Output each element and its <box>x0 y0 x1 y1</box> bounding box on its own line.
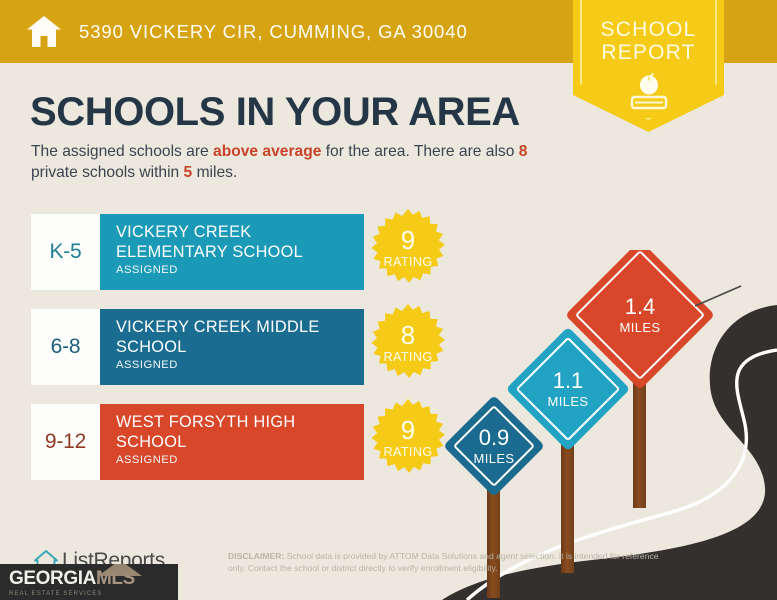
school-status: ASSIGNED <box>116 454 364 466</box>
subtitle-highlight-above-average: above average <box>213 143 321 160</box>
sign-antenna-icon <box>695 284 755 314</box>
school-name-bar: VICKERY CREEK MIDDLE SCHOOL ASSIGNED <box>100 309 364 385</box>
subtitle-highlight-private-count: 8 <box>519 143 528 160</box>
sign-distance: 1.4 <box>625 296 656 318</box>
badge-line-1: SCHOOL <box>573 18 724 41</box>
gamls-roof-icon <box>98 564 142 576</box>
gamls-tagline: REAL ESTATE SERVICES <box>9 591 178 597</box>
school-row[interactable]: 6-8 VICKERY CREEK MIDDLE SCHOOL ASSIGNED… <box>31 309 429 385</box>
grade-badge: K-5 <box>31 214 100 290</box>
sign-post <box>487 488 500 598</box>
grade-badge: 9-12 <box>31 404 100 480</box>
georgia-mls-logo[interactable]: GEORGIA MLS REAL ESTATE SERVICES <box>0 564 178 600</box>
school-name-bar: VICKERY CREEK ELEMENTARY SCHOOL ASSIGNED <box>100 214 364 290</box>
sign-unit: MILES <box>547 395 588 408</box>
school-row[interactable]: 9-12 WEST FORSYTH HIGH SCHOOL ASSIGNED 9… <box>31 404 429 480</box>
disclaimer-label: DISCLAIMER: <box>228 551 284 561</box>
school-name-bar: WEST FORSYTH HIGH SCHOOL ASSIGNED <box>100 404 364 480</box>
school-name: WEST FORSYTH HIGH SCHOOL <box>116 413 364 452</box>
house-icon <box>27 16 61 47</box>
subtitle-part-2: for the area. There are also <box>321 143 518 160</box>
school-name: VICKERY CREEK ELEMENTARY SCHOOL <box>116 223 364 262</box>
sign-distance: 0.9 <box>479 427 510 449</box>
page-title: SCHOOLS IN YOUR AREA <box>30 90 520 135</box>
school-row[interactable]: K-5 VICKERY CREEK ELEMENTARY SCHOOL ASSI… <box>31 214 429 290</box>
sign-label: 1.4 MILES <box>587 262 693 368</box>
sign-label: 0.9 MILES <box>458 410 530 482</box>
sign-distance: 1.1 <box>553 370 584 392</box>
grade-badge: 6-8 <box>31 309 100 385</box>
school-report-infographic: 5390 VICKERY CIR, CUMMING, GA 30040 SCHO… <box>0 0 777 600</box>
subtitle-part-1: The assigned schools are <box>31 143 213 160</box>
subtitle-part-4: miles. <box>192 164 237 181</box>
gamls-georgia: GEORGIA <box>9 568 96 590</box>
gamls-wordmark: GEORGIA MLS <box>9 568 178 590</box>
school-name: VICKERY CREEK MIDDLE SCHOOL <box>116 318 364 357</box>
disclaimer-text: DISCLAIMER: School data is provided by A… <box>228 551 668 574</box>
page-subtitle: The assigned schools are above average f… <box>31 141 546 183</box>
badge-text: SCHOOL REPORT <box>573 18 724 64</box>
school-report-badge: SCHOOL REPORT <box>573 0 724 132</box>
sign-unit: MILES <box>473 452 514 465</box>
subtitle-highlight-radius: 5 <box>184 164 193 181</box>
sign-post <box>633 383 646 508</box>
school-status: ASSIGNED <box>116 359 364 371</box>
distance-signs-illustration: 0.9 MILES 1.1 MILES 1.4 MILES <box>432 250 777 600</box>
sign-unit: MILES <box>619 321 660 334</box>
property-address: 5390 VICKERY CIR, CUMMING, GA 30040 <box>79 21 468 43</box>
badge-line-2: REPORT <box>573 41 724 64</box>
disclaimer-body: School data is provided by ATTOM Data So… <box>228 551 659 573</box>
school-status: ASSIGNED <box>116 264 364 276</box>
subtitle-part-3: private schools within <box>31 164 184 181</box>
apple-on-books-icon <box>573 72 724 117</box>
school-list: K-5 VICKERY CREEK ELEMENTARY SCHOOL ASSI… <box>31 214 429 499</box>
